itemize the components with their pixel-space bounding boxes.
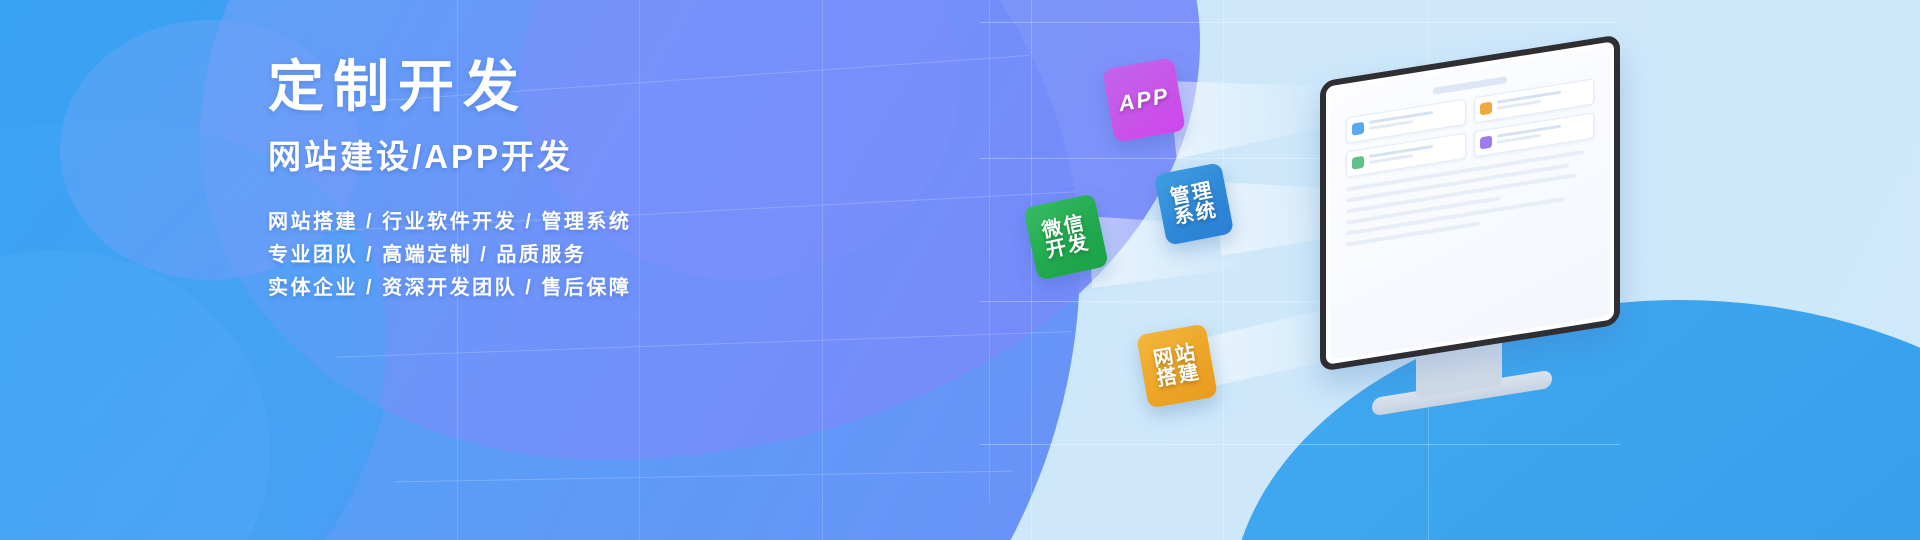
screen-card-lines bbox=[1497, 120, 1588, 146]
screen-card-icon bbox=[1480, 136, 1492, 150]
screen-card-lines bbox=[1497, 86, 1588, 112]
service-card-web[interactable]: 网站 搭建 bbox=[1136, 323, 1218, 408]
monitor-frame bbox=[1320, 34, 1620, 372]
screen-card-lines bbox=[1369, 107, 1460, 133]
feature-line: 实体企业 / 资深开发团队 / 售后保障 bbox=[268, 272, 788, 305]
monitor-screen bbox=[1330, 46, 1610, 360]
screen-card-icon bbox=[1480, 102, 1492, 116]
feature-list: 网站搭建 / 行业软件开发 / 管理系统 专业团队 / 高端定制 / 品质服务 … bbox=[268, 206, 788, 305]
card-label: APP bbox=[1117, 85, 1171, 116]
service-card-mgmt[interactable]: 管理 系统 bbox=[1154, 162, 1234, 246]
promo-banner: 定制开发 网站建设/APP开发 网站搭建 / 行业软件开发 / 管理系统 专业团… bbox=[0, 0, 1920, 540]
feature-line: 专业团队 / 高端定制 / 品质服务 bbox=[268, 239, 788, 272]
screen-title-placeholder bbox=[1433, 76, 1507, 95]
page-title: 定制开发 bbox=[268, 58, 788, 117]
screen-card-lines bbox=[1369, 141, 1460, 167]
feature-line: 网站搭建 / 行业软件开发 / 管理系统 bbox=[268, 206, 788, 239]
page-subtitle: 网站建设/APP开发 bbox=[268, 137, 788, 177]
service-card-wechat[interactable]: 微信 开发 bbox=[1023, 193, 1109, 280]
screen-card-icon bbox=[1352, 122, 1364, 136]
screen-card-icon bbox=[1352, 156, 1364, 170]
service-card-app[interactable]: APP bbox=[1102, 57, 1186, 142]
headline-block: 定制开发 网站建设/APP开发 网站搭建 / 行业软件开发 / 管理系统 专业团… bbox=[268, 58, 788, 305]
